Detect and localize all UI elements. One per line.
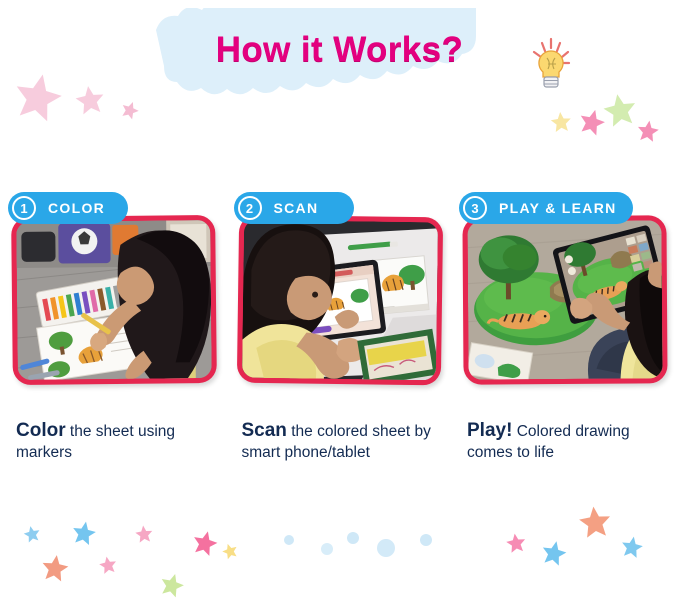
step-1-caption-lead: Color xyxy=(16,420,66,441)
step-2-photo-frame[interactable] xyxy=(236,215,442,386)
step-2-badge[interactable]: 2 SCAN xyxy=(234,192,354,224)
step-1-photo-frame[interactable] xyxy=(11,215,217,385)
steps-row: 1 COLOR xyxy=(0,192,679,492)
step-1-number: 1 xyxy=(12,196,36,220)
step-3-photo xyxy=(467,220,662,379)
step-2-number: 2 xyxy=(238,196,262,220)
step-3-caption-lead: Play! xyxy=(467,420,512,441)
step-1-badge-label: COLOR xyxy=(48,200,105,216)
how-it-works-infographic: How it Works? 1 COLOR xyxy=(0,0,679,599)
step-3-caption: Play! Colored drawing comes to life xyxy=(457,420,673,463)
step-2: 2 SCAN xyxy=(232,192,448,492)
step-2-caption-lead: Scan xyxy=(242,420,287,441)
step-1-badge[interactable]: 1 COLOR xyxy=(8,192,128,224)
step-2-photo xyxy=(241,220,437,381)
step-2-badge-label: SCAN xyxy=(274,200,319,216)
step-2-caption: Scan the colored sheet by smart phone/ta… xyxy=(232,420,448,463)
step-3-badge-label: PLAY & LEARN xyxy=(499,200,617,216)
step-3-photo-frame[interactable] xyxy=(462,215,667,384)
page-header: How it Works? xyxy=(0,0,679,190)
lightbulb-icon xyxy=(529,36,575,94)
step-3: 3 PLAY & LEARN xyxy=(457,192,673,492)
step-3-badge[interactable]: 3 PLAY & LEARN xyxy=(459,192,633,224)
step-3-number: 3 xyxy=(463,196,487,220)
page-title: How it Works? xyxy=(0,30,679,70)
step-1-caption: Color the sheet using markers xyxy=(6,420,222,463)
step-1: 1 COLOR xyxy=(6,192,222,492)
step-1-photo xyxy=(16,220,212,380)
